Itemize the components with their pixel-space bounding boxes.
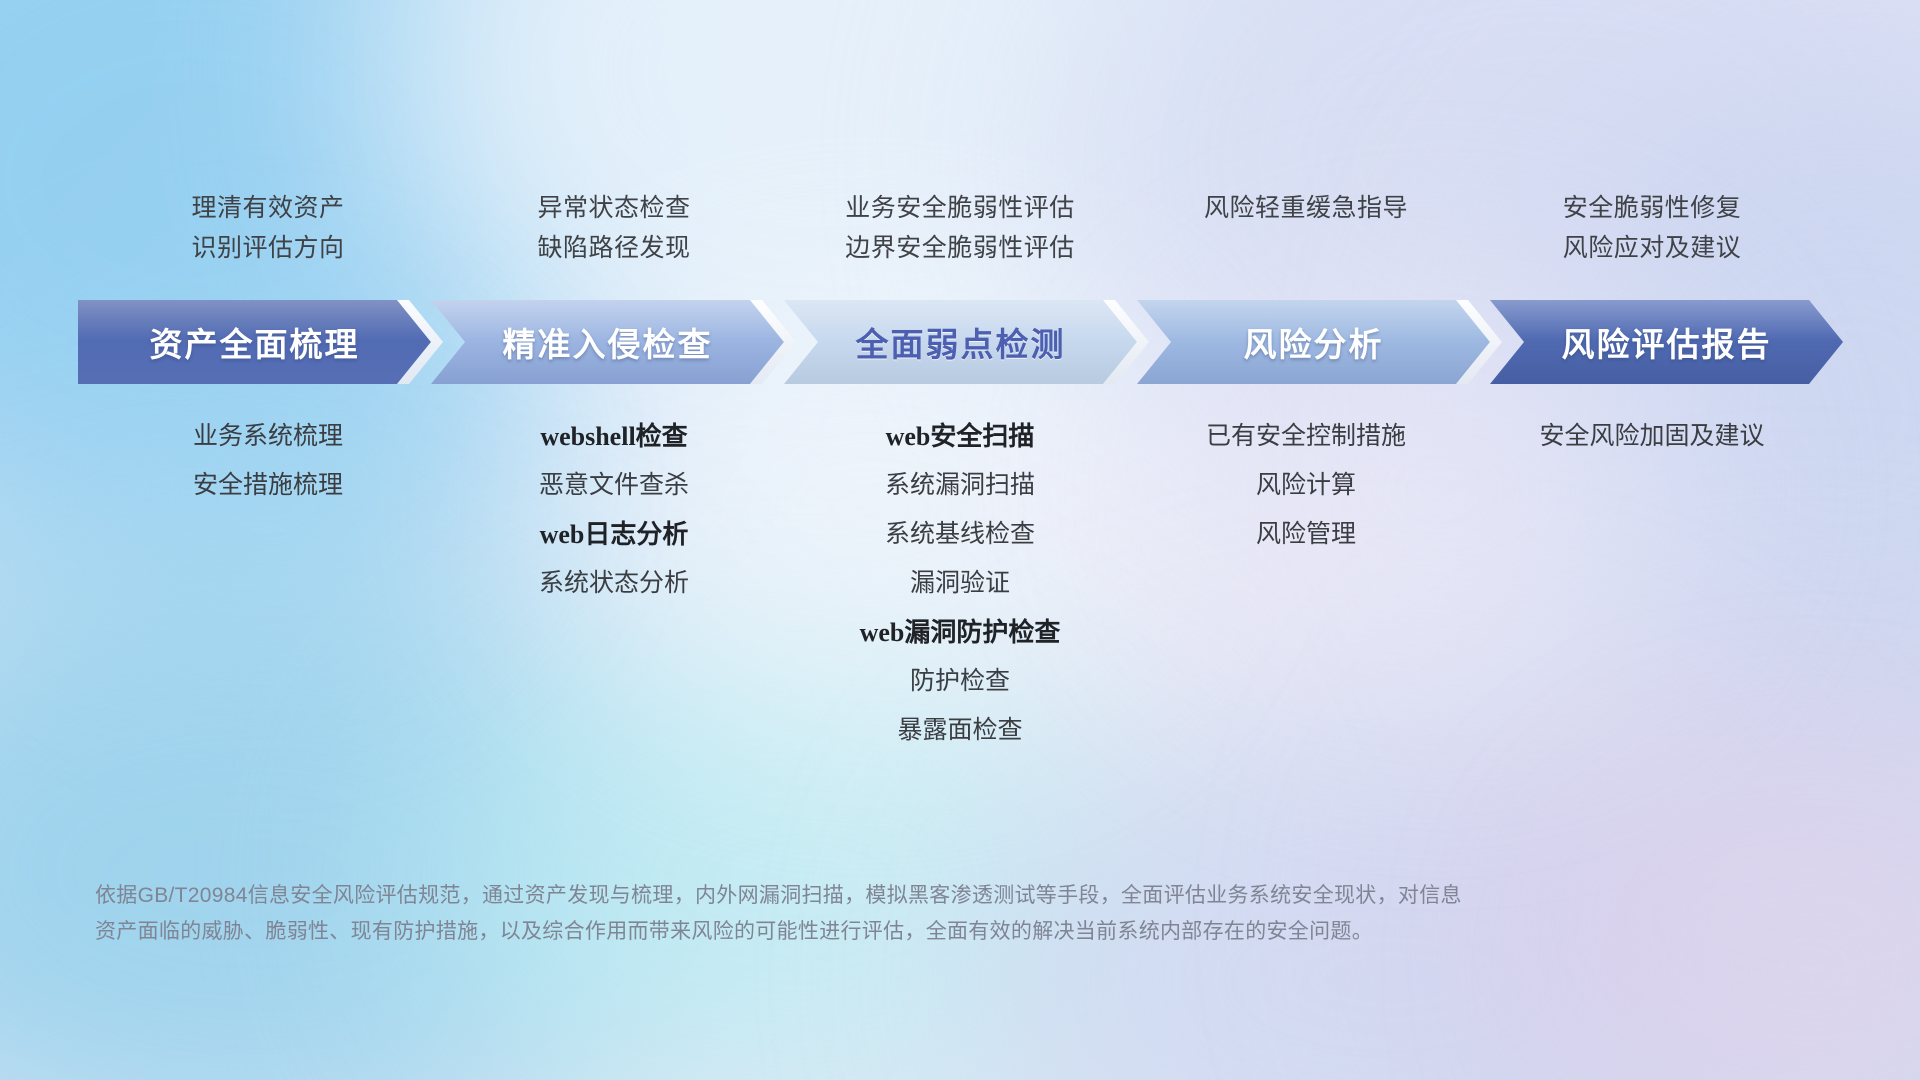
- detail-list: webshell检查恶意文件查杀web日志分析系统状态分析: [441, 412, 787, 755]
- detail-list-item: 恶意文件查杀: [441, 461, 787, 510]
- detail-list-item: 系统基线检查: [787, 510, 1133, 559]
- detail-list-item: 系统状态分析: [441, 559, 787, 608]
- top-annotation-text: 风险应对及建议: [1479, 228, 1825, 268]
- detail-list-item: 防护检查: [787, 657, 1133, 706]
- detail-list: 安全风险加固及建议: [1479, 412, 1825, 755]
- footer-description: 依据GB/T20984信息安全风险评估规范，通过资产发现与梳理，内外网漏洞扫描，…: [95, 878, 1625, 950]
- footer-line-1: 依据GB/T20984信息安全风险评估规范，通过资产发现与梳理，内外网漏洞扫描，…: [95, 878, 1625, 914]
- top-annotation-group: 风险轻重缓急指导: [1133, 188, 1479, 268]
- detail-list-item: 系统漏洞扫描: [787, 461, 1133, 510]
- process-step-3[interactable]: 全面弱点检测: [784, 300, 1137, 384]
- detail-list-item: webshell检查: [441, 412, 787, 461]
- detail-list-item: 漏洞验证: [787, 559, 1133, 608]
- top-annotations-row: 理清有效资产识别评估方向异常状态检查缺陷路径发现业务安全脆弱性评估边界安全脆弱性…: [95, 188, 1825, 268]
- detail-list-item: 业务系统梳理: [95, 412, 441, 461]
- top-annotation-text: 异常状态检查: [441, 188, 787, 228]
- detail-list: 已有安全控制措施风险计算风险管理: [1133, 412, 1479, 755]
- footer-line-2: 资产面临的威胁、脆弱性、现有防护措施，以及综合作用而带来风险的可能性进行评估，全…: [95, 914, 1625, 950]
- top-annotation-text: 理清有效资产: [95, 188, 441, 228]
- top-annotation-group: 业务安全脆弱性评估边界安全脆弱性评估: [787, 188, 1133, 268]
- top-annotation-text: 边界安全脆弱性评估: [787, 228, 1133, 268]
- bottom-detail-row: 业务系统梳理安全措施梳理webshell检查恶意文件查杀web日志分析系统状态分…: [95, 412, 1825, 755]
- detail-list-item: web安全扫描: [787, 412, 1133, 461]
- detail-list-item: 风险管理: [1133, 510, 1479, 559]
- process-step-label: 资产全面梳理: [150, 318, 360, 366]
- process-step-4[interactable]: 风险分析: [1137, 300, 1490, 384]
- top-annotation-text: 识别评估方向: [95, 228, 441, 268]
- detail-list-item: web日志分析: [441, 510, 787, 559]
- process-step-label: 全面弱点检测: [856, 318, 1066, 366]
- process-step-label: 风险分析: [1244, 318, 1384, 366]
- detail-list-item: 安全风险加固及建议: [1479, 412, 1825, 461]
- process-step-label: 精准入侵检查: [503, 318, 713, 366]
- process-step-1[interactable]: 资产全面梳理: [78, 300, 431, 384]
- detail-list-item: 暴露面检查: [787, 706, 1133, 755]
- top-annotation-group: 安全脆弱性修复风险应对及建议: [1479, 188, 1825, 268]
- process-step-2[interactable]: 精准入侵检查: [431, 300, 784, 384]
- process-chevron-banner: 资产全面梳理精准入侵检查全面弱点检测风险分析风险评估报告: [78, 300, 1843, 384]
- detail-list-item: 已有安全控制措施: [1133, 412, 1479, 461]
- detail-list: 业务系统梳理安全措施梳理: [95, 412, 441, 755]
- detail-list-item: 安全措施梳理: [95, 461, 441, 510]
- top-annotation-text: 安全脆弱性修复: [1479, 188, 1825, 228]
- top-annotation-text: 缺陷路径发现: [441, 228, 787, 268]
- process-step-5[interactable]: 风险评估报告: [1490, 300, 1843, 384]
- top-annotation-text: 业务安全脆弱性评估: [787, 188, 1133, 228]
- process-step-label: 风险评估报告: [1562, 318, 1772, 366]
- detail-list: web安全扫描系统漏洞扫描系统基线检查漏洞验证web漏洞防护检查防护检查暴露面检…: [787, 412, 1133, 755]
- detail-list-item: 风险计算: [1133, 461, 1479, 510]
- slide-content: 理清有效资产识别评估方向异常状态检查缺陷路径发现业务安全脆弱性评估边界安全脆弱性…: [0, 0, 1920, 1080]
- detail-list-item: web漏洞防护检查: [787, 608, 1133, 657]
- top-annotation-text: 风险轻重缓急指导: [1133, 188, 1479, 228]
- top-annotation-group: 异常状态检查缺陷路径发现: [441, 188, 787, 268]
- top-annotation-group: 理清有效资产识别评估方向: [95, 188, 441, 268]
